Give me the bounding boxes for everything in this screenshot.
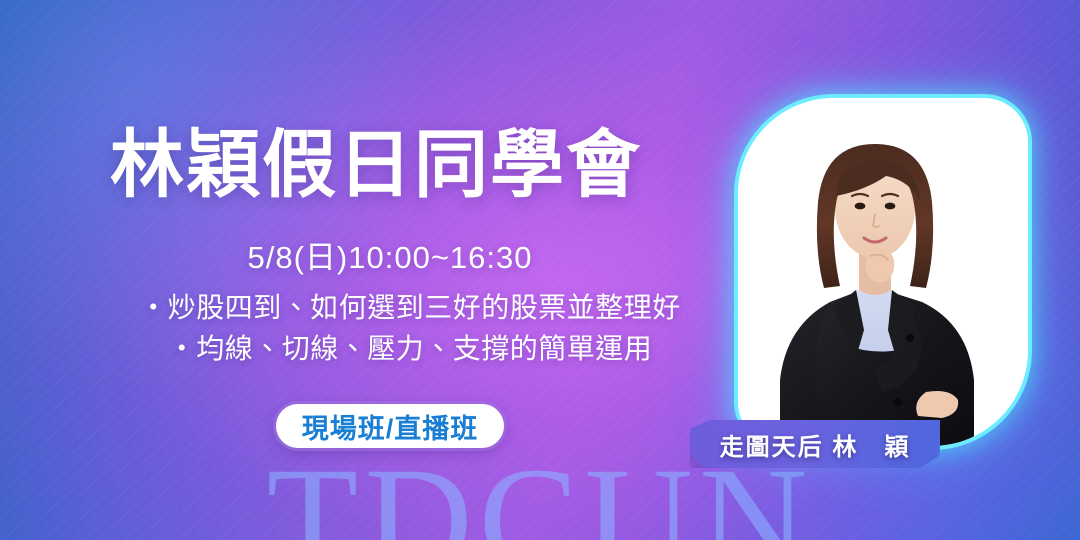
list-item: ・炒股四到、如何選到三好的股票並整理好 bbox=[110, 288, 710, 329]
speaker-name-ribbon: 走圖天后 林 穎 bbox=[690, 420, 940, 468]
portrait-panel-background bbox=[738, 98, 1028, 446]
topic-list: ・炒股四到、如何選到三好的股票並整理好 ・均線、切線、壓力、支撐的簡單運用 bbox=[110, 288, 710, 370]
page-title: 林穎假日同學會 bbox=[110, 128, 642, 202]
promo-banner: TDCUN 林穎假日同學會 5/8(日)10:00~16:30 ・炒股四到、如何… bbox=[0, 0, 1080, 540]
badge-container: 現場班/直播班 bbox=[110, 404, 670, 448]
event-datetime: 5/8(日)10:00~16:30 bbox=[110, 232, 670, 277]
list-item: ・均線、切線、壓力、支撐的簡單運用 bbox=[110, 329, 710, 370]
class-format-badge[interactable]: 現場班/直播班 bbox=[276, 404, 505, 448]
speaker-name-label: 走圖天后 林 穎 bbox=[720, 427, 911, 462]
